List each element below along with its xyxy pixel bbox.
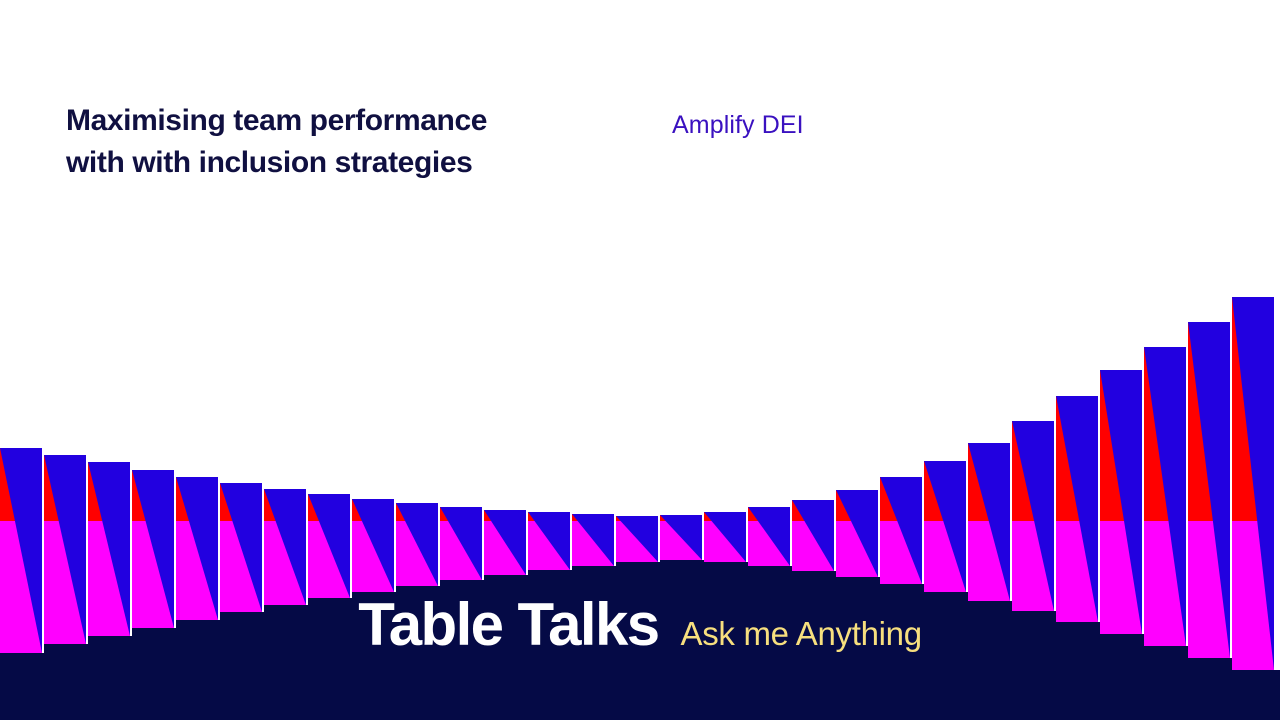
bar-column xyxy=(396,503,438,586)
bar-column xyxy=(880,477,922,584)
bar-column xyxy=(264,489,306,605)
bar-column xyxy=(660,515,702,560)
bar-column xyxy=(792,500,834,571)
bar-column xyxy=(1012,421,1054,611)
bar-column xyxy=(968,443,1010,601)
bar-column xyxy=(924,461,966,592)
bar-column xyxy=(1056,396,1098,622)
bar-column xyxy=(484,510,526,575)
bar-column xyxy=(528,512,570,570)
bar-column xyxy=(440,507,482,580)
bar-column xyxy=(704,512,746,562)
brand-name: Amplify DEI xyxy=(672,109,804,141)
footer-lockup: Table Talks Ask me Anything xyxy=(0,592,1280,668)
bar-column xyxy=(748,507,790,566)
slide-canvas: Maximising team performance with with in… xyxy=(0,0,1280,720)
event-title: Table Talks xyxy=(358,592,658,658)
bar-column xyxy=(308,494,350,598)
bar-column xyxy=(616,516,658,562)
page-title: Maximising team performance with with in… xyxy=(66,100,666,184)
bar-column xyxy=(836,490,878,577)
event-tagline: Ask me Anything xyxy=(681,614,922,654)
bar-column xyxy=(572,514,614,566)
bar-column xyxy=(352,499,394,592)
